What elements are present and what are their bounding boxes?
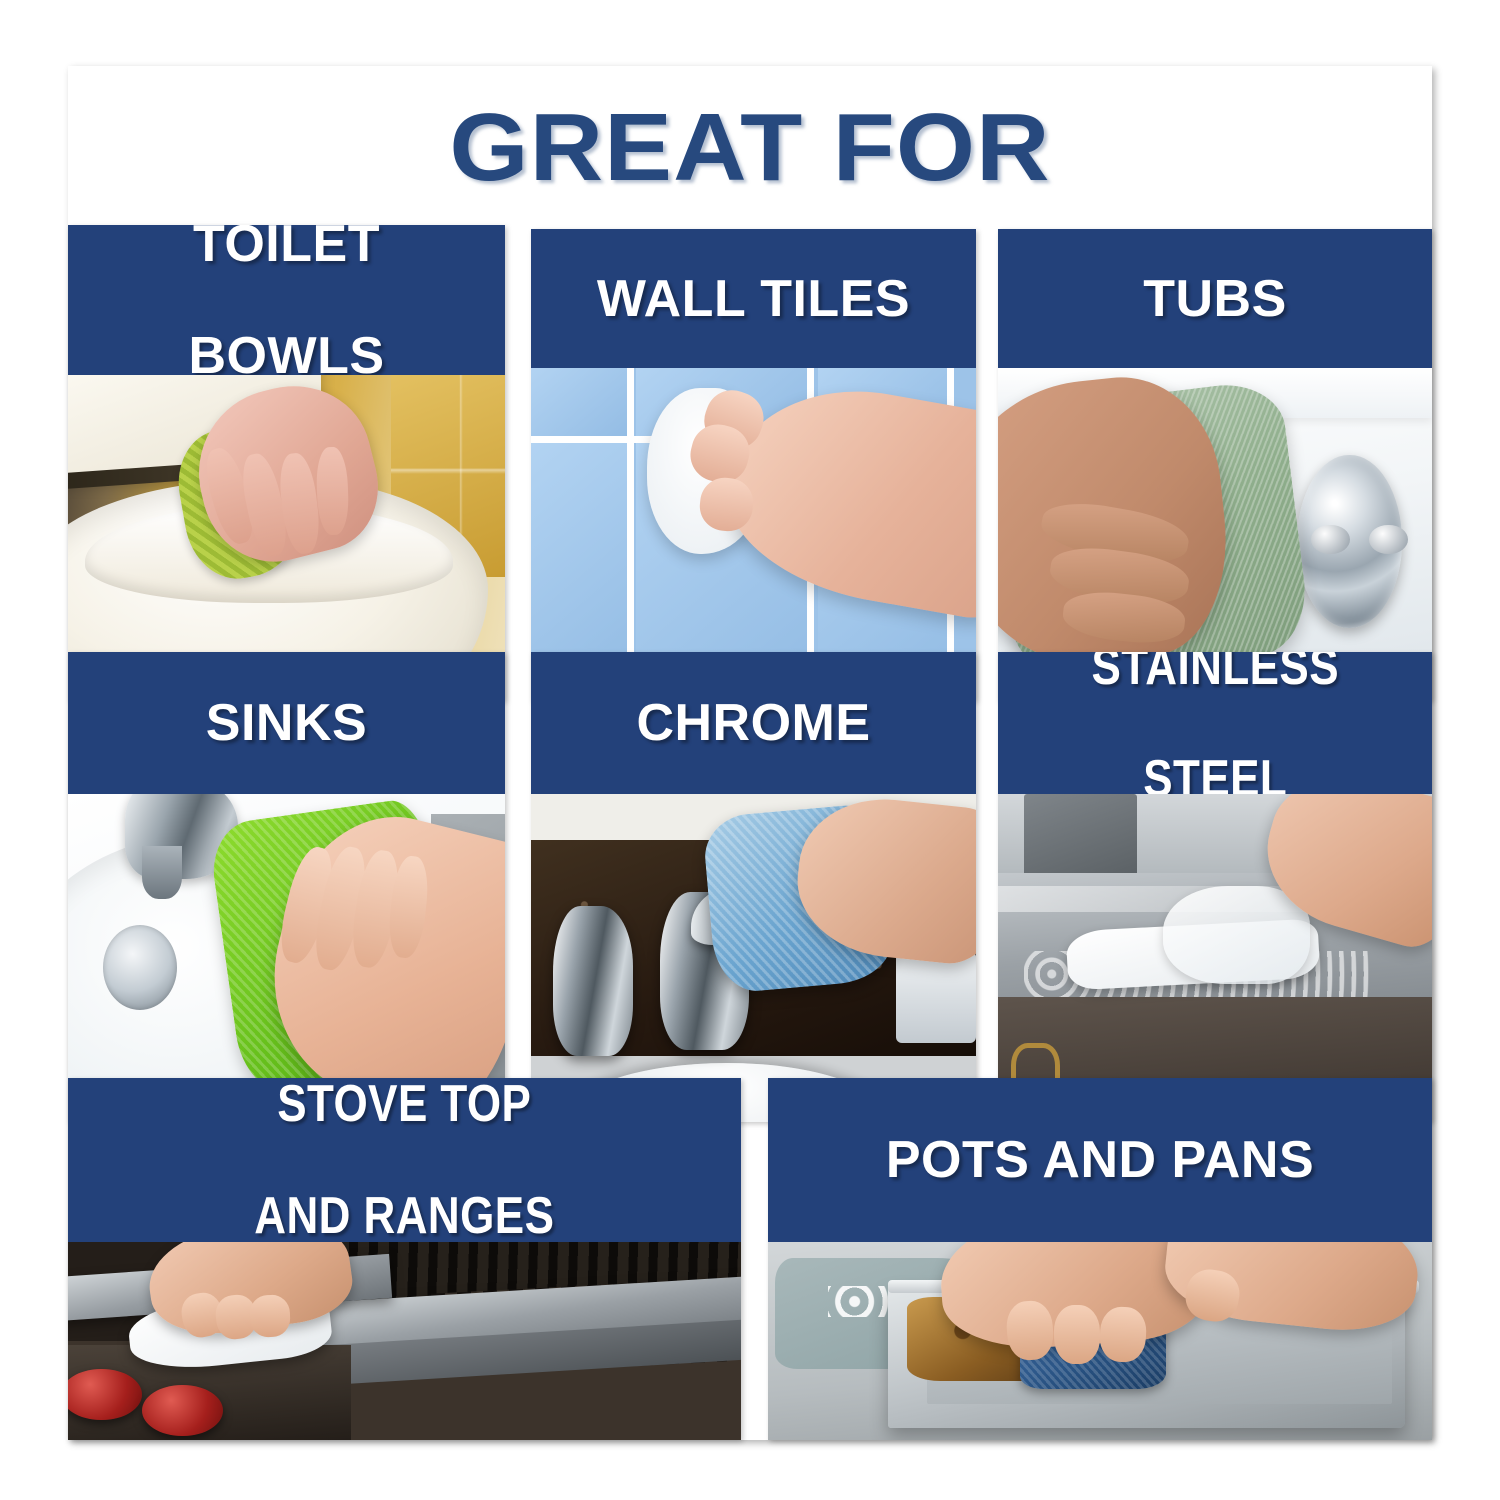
title-band: GREAT FOR <box>68 66 1432 218</box>
photo-sinks <box>68 794 505 1122</box>
great-for-infographic: GREAT FOR TOILET BOWLS WALL TILES <box>68 66 1432 1440</box>
panel-wall-tiles: WALL TILES <box>531 229 976 701</box>
caption-line-1: POTS AND PANS <box>886 1132 1314 1188</box>
panel-stove-top-and-ranges: STOVE TOP AND RANGES <box>68 1078 741 1440</box>
caption-line-2: AND RANGES <box>254 1188 554 1244</box>
caption-line-1: SINKS <box>206 695 367 751</box>
caption-chrome: CHROME <box>531 652 976 794</box>
caption-line-1: TOILET <box>188 225 384 272</box>
caption-line-1: STOVE TOP <box>254 1078 554 1132</box>
caption-line-1: CHROME <box>636 695 870 751</box>
caption-stainless-steel: STAINLESS STEEL <box>998 652 1432 794</box>
caption-line-1: WALL TILES <box>597 271 910 327</box>
caption-sinks: SINKS <box>68 652 505 794</box>
caption-pots-and-pans: POTS AND PANS <box>768 1078 1432 1242</box>
panel-tubs: TUBS <box>998 229 1432 701</box>
panel-pots-and-pans: POTS AND PANS <box>768 1078 1432 1440</box>
photo-stove-top-and-ranges <box>68 1242 741 1440</box>
caption-stove-top-and-ranges: STOVE TOP AND RANGES <box>68 1078 741 1242</box>
panel-chrome: CHROME <box>531 652 976 1122</box>
caption-toilet-bowls: TOILET BOWLS <box>68 225 505 375</box>
panel-sinks: SINKS <box>68 652 505 1122</box>
caption-tubs: TUBS <box>998 229 1432 368</box>
caption-wall-tiles: WALL TILES <box>531 229 976 368</box>
panel-toilet-bowls: TOILET BOWLS <box>68 225 505 701</box>
caption-line-1: TUBS <box>1143 271 1287 327</box>
page-title: GREAT FOR <box>27 100 1473 196</box>
caption-line-1: STAINLESS <box>1091 652 1339 695</box>
photo-stainless-steel <box>998 794 1432 1122</box>
photo-pots-and-pans <box>768 1242 1432 1440</box>
panel-stainless-steel: STAINLESS STEEL <box>998 652 1432 1122</box>
photo-chrome <box>531 794 976 1122</box>
